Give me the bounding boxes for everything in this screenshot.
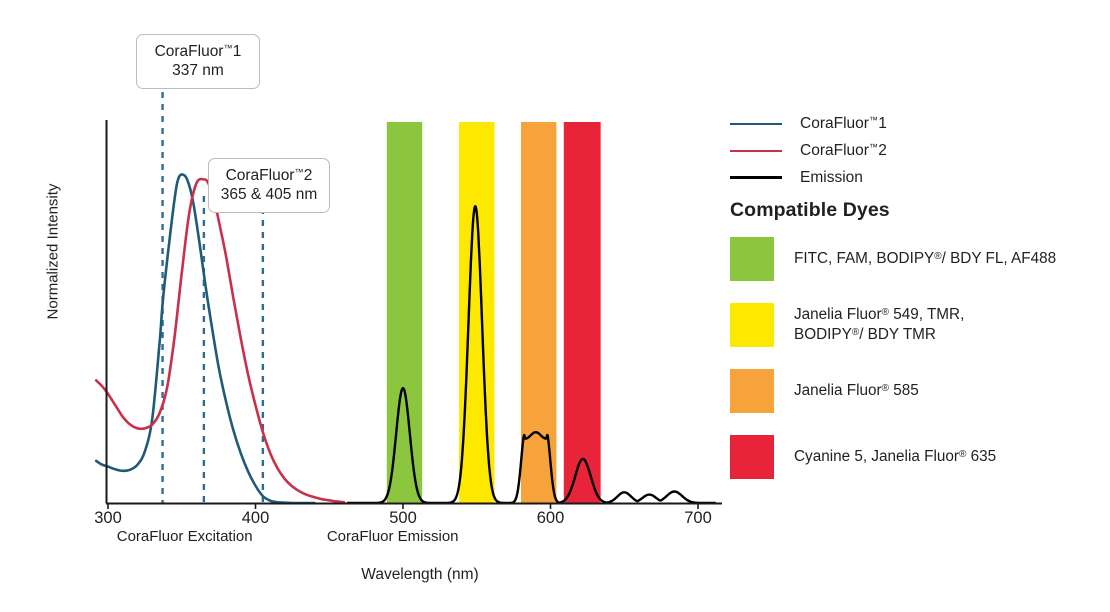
dye-color-swatch [730,303,774,347]
compatible-dyes-heading: Compatible Dyes [730,199,890,222]
legend-row-1: CoraFluor™2 [730,137,1090,164]
x-tick-label-300: 300 [78,509,138,528]
legend-row-0: CoraFluor™1 [730,110,1090,137]
callout-2-line1: CoraFluor™2 [226,167,313,184]
dye-label-line1: Janelia Fluor® 585 [794,381,919,401]
legend-label: Emission [800,169,863,187]
legend-line-swatch [730,176,782,179]
x-tick-label-500: 500 [373,509,433,528]
fluorescence-spectra-figure: CoraFluor™1 337 nm CoraFluor™2 365 & 405… [0,0,1110,612]
red-band [564,122,601,503]
axis-sublabel-excitation: CoraFluor Excitation [95,528,275,545]
dye-label-line1: FITC, FAM, BODIPY®/ BDY FL, AF488 [794,249,1056,269]
compatible-dyes-list: FITC, FAM, BODIPY®/ BDY FL, AF488Janelia… [730,234,1100,498]
x-tick-label-600: 600 [521,509,581,528]
axis-sublabel-emission: CoraFluor Emission [303,528,483,545]
legend-line-swatch [730,150,782,152]
dye-color-swatch [730,435,774,479]
dye-row-0: FITC, FAM, BODIPY®/ BDY FL, AF488 [730,234,1100,284]
legend-row-2: Emission [730,164,1090,191]
orange-band [521,122,556,503]
dye-row-2: Janelia Fluor® 585 [730,366,1100,416]
legend-label: CoraFluor™2 [800,142,887,160]
dye-label: Cyanine 5, Janelia Fluor® 635 [794,447,996,467]
x-tick-label-400: 400 [226,509,286,528]
x-tick-label-700: 700 [668,509,728,528]
excitation-marker-lines-group [163,92,263,503]
green-band [387,122,422,503]
curve-corafluor1 [96,174,314,503]
dye-label: Janelia Fluor® 585 [794,381,919,401]
dye-label: FITC, FAM, BODIPY®/ BDY FL, AF488 [794,249,1056,269]
legend-label: CoraFluor™1 [800,115,887,133]
yellow-band [459,122,494,503]
x-axis-title: Wavelength (nm) [0,566,840,584]
callout-1-line2: 337 nm [147,61,249,80]
callout-corafluor2: CoraFluor™2 365 & 405 nm [208,158,330,213]
callout-corafluor1: CoraFluor™1 337 nm [136,34,260,89]
dye-color-swatch [730,237,774,281]
curve-corafluor2 [96,179,344,502]
emission-bands-group [387,122,601,503]
series-legend: CoraFluor™1CoraFluor™2Emission [730,110,1090,191]
dye-label-line1: Cyanine 5, Janelia Fluor® 635 [794,447,996,467]
dye-row-3: Cyanine 5, Janelia Fluor® 635 [730,432,1100,482]
spectra-plot [0,0,760,560]
dye-label: Janelia Fluor® 549, TMR,BODIPY®/ BDY TMR [794,305,964,345]
dye-label-line1: Janelia Fluor® 549, TMR, [794,305,964,325]
y-axis-title: Normalized Intensity [45,172,62,332]
dye-label-line2: BODIPY®/ BDY TMR [794,325,964,345]
callout-2-line2: 365 & 405 nm [219,185,319,204]
dye-row-1: Janelia Fluor® 549, TMR,BODIPY®/ BDY TMR [730,300,1100,350]
callout-1-line1: CoraFluor™1 [155,43,242,60]
legend-line-swatch [730,123,782,125]
dye-color-swatch [730,369,774,413]
